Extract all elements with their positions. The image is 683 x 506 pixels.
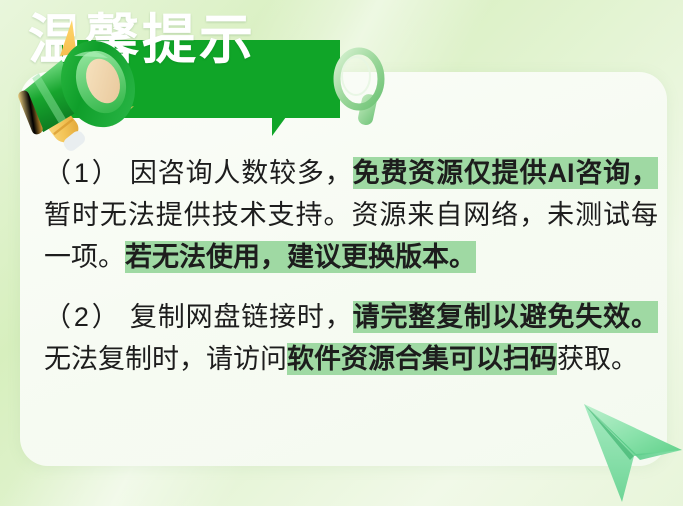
run-highlight: 若无法使用，建议更换版本。 xyxy=(125,241,476,273)
run-text: 因咨询人数较多， xyxy=(130,158,353,188)
run-highlight: 请完整复制以避免失效。 xyxy=(353,301,658,333)
run-text: 无法复制时，请访问 xyxy=(44,344,287,374)
run-text: 获取。 xyxy=(557,344,638,374)
paragraph-number-2: （2） xyxy=(44,302,122,332)
run-highlight: 软件资源合集可以扫码 xyxy=(287,343,557,375)
run-text: 复制网盘链接时， xyxy=(130,302,353,332)
notice-paragraph-1: （1） 因咨询人数较多，免费资源仅提供AI咨询，暂时无法提供技术支持。资源来自网… xyxy=(44,152,658,278)
megaphone-icon xyxy=(2,14,152,154)
badge-tail xyxy=(272,117,300,136)
notice-card-page: 温馨提示 （1） 因咨询人数较多，免费资源仅提供AI咨询，暂 xyxy=(0,0,683,506)
magnifier-icon xyxy=(330,46,392,132)
paragraph-number-1: （1） xyxy=(44,158,122,188)
notice-paragraph-2: （2） 复制网盘链接时，请完整复制以避免失效。无法复制时，请访问软件资源合集可以… xyxy=(44,296,658,380)
paper-plane-icon xyxy=(578,398,683,506)
notice-body: （1） 因咨询人数较多，免费资源仅提供AI咨询，暂时无法提供技术支持。资源来自网… xyxy=(44,152,658,380)
run-highlight: 免费资源仅提供AI咨询， xyxy=(353,157,658,189)
